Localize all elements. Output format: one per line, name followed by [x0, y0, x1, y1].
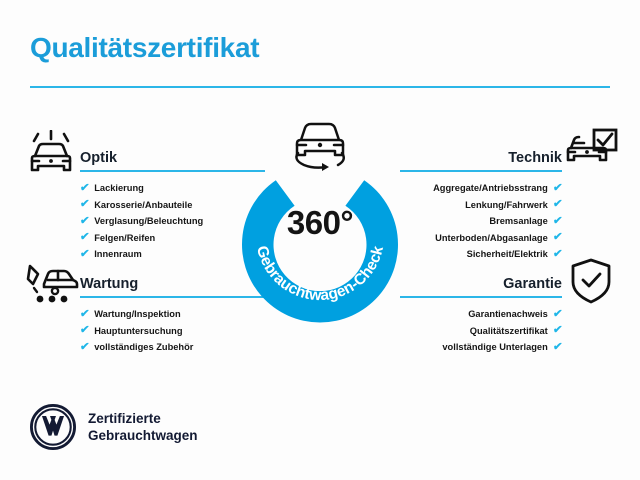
- section-garantie: Garantie Garantienachweis✔ Qualitätszert…: [400, 268, 562, 356]
- list-item: Garantienachweis✔: [400, 306, 562, 323]
- list-item: Aggregate/Antriebsstrang✔: [400, 180, 562, 197]
- brand-footer: Zertifizierte Gebrauchtwagen: [30, 404, 198, 450]
- list-item-label: Hauptuntersuchung: [94, 323, 182, 340]
- list-item: ✔Hauptuntersuchung: [80, 323, 265, 340]
- list-item: Qualitätszertifikat✔: [400, 323, 562, 340]
- section-technik-list: Aggregate/Antriebsstrang✔ Lenkung/Fahrwe…: [400, 180, 562, 263]
- car-checkbox-icon: [562, 128, 620, 183]
- section-garantie-list: Garantienachweis✔ Qualitätszertifikat✔ v…: [400, 306, 562, 356]
- list-item-label: Felgen/Reifen: [94, 230, 155, 247]
- check-icon: ✔: [79, 183, 89, 194]
- list-item-label: vollständiges Zubehör: [94, 339, 193, 356]
- brand-line-2: Gebrauchtwagen: [88, 427, 198, 444]
- check-icon: ✔: [79, 216, 89, 227]
- list-item-label: Karosserie/Anbauteile: [94, 197, 192, 214]
- car-service-pen-icon: [24, 258, 80, 313]
- brand-text: Zertifizierte Gebrauchtwagen: [88, 410, 198, 444]
- section-technik-title: Technik: [508, 150, 562, 166]
- check-icon: ✔: [79, 199, 89, 210]
- quality-certificate-page: Qualitätszertifikat: [0, 0, 640, 480]
- list-item-label: Bremsanlage: [489, 213, 547, 230]
- check-icon: ✔: [79, 249, 89, 260]
- list-item-label: Verglasung/Beleuchtung: [94, 213, 203, 230]
- list-item-label: Qualitätszertifikat: [470, 323, 548, 340]
- car-rotate-icon: [284, 112, 356, 174]
- list-item-label: Wartung/Inspektion: [94, 306, 180, 323]
- section-garantie-header: Garantie: [400, 268, 562, 294]
- list-item-label: Innenraum: [94, 246, 142, 263]
- list-item: ✔vollständiges Zubehör: [80, 339, 265, 356]
- section-garantie-divider: [400, 296, 562, 298]
- section-wartung-title: Wartung: [80, 276, 138, 292]
- list-item-label: Sicherheit/Elektrik: [467, 246, 548, 263]
- section-technik-header: Technik: [400, 142, 562, 168]
- list-item: Sicherheit/Elektrik✔: [400, 246, 562, 263]
- shield-check-icon: [568, 256, 614, 311]
- section-technik: Technik Aggregate/Antriebsstrang✔ Lenkun…: [400, 142, 562, 263]
- check-icon: ✔: [79, 342, 89, 353]
- car-shine-icon: [24, 130, 80, 185]
- check-icon: ✔: [552, 325, 562, 336]
- list-item-label: Lackierung: [94, 180, 144, 197]
- check-icon: ✔: [79, 309, 89, 320]
- check-icon: ✔: [552, 232, 562, 243]
- check-icon: ✔: [552, 216, 562, 227]
- check-icon: ✔: [552, 342, 562, 353]
- badge-value: 360°: [232, 204, 408, 242]
- list-item: Lenkung/Fahrwerk✔: [400, 197, 562, 214]
- 360-check-badge: Gebrauchtwagen-Check 360°: [232, 148, 408, 324]
- list-item-label: Garantienachweis: [468, 306, 548, 323]
- check-icon: ✔: [79, 325, 89, 336]
- list-item-label: vollständige Unterlagen: [442, 339, 547, 356]
- list-item: vollständige Unterlagen✔: [400, 339, 562, 356]
- list-item: Unterboden/Abgasanlage✔: [400, 230, 562, 247]
- brand-line-1: Zertifizierte: [88, 410, 198, 427]
- check-icon: ✔: [552, 309, 562, 320]
- page-title: Qualitätszertifikat: [30, 32, 259, 64]
- title-divider: [30, 86, 610, 88]
- section-technik-divider: [400, 170, 562, 172]
- list-item: Bremsanlage✔: [400, 213, 562, 230]
- list-item-label: Aggregate/Antriebsstrang: [433, 180, 548, 197]
- section-optik-title: Optik: [80, 150, 117, 166]
- list-item-label: Lenkung/Fahrwerk: [465, 197, 548, 214]
- vw-logo-icon: [30, 404, 76, 450]
- check-icon: ✔: [552, 199, 562, 210]
- check-icon: ✔: [552, 249, 562, 260]
- check-icon: ✔: [552, 183, 562, 194]
- section-garantie-title: Garantie: [503, 276, 562, 292]
- list-item-label: Unterboden/Abgasanlage: [435, 230, 548, 247]
- check-icon: ✔: [79, 232, 89, 243]
